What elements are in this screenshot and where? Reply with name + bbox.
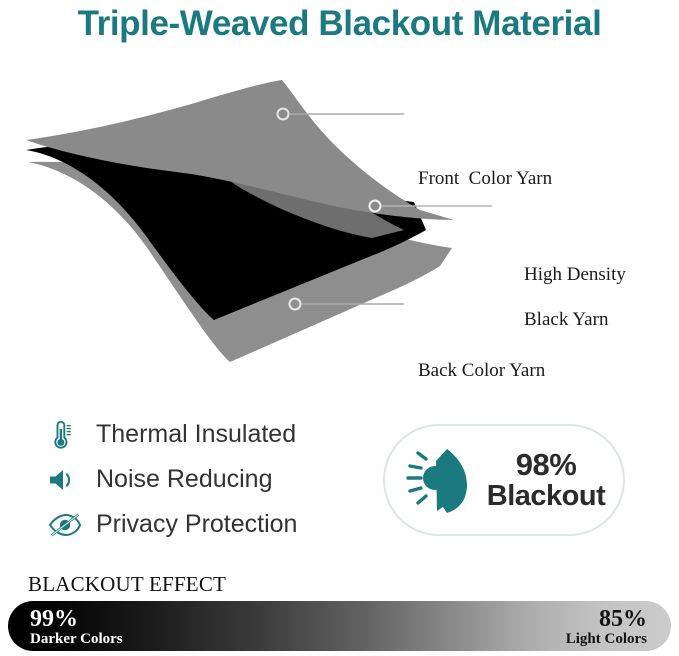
feature-list: Thermal Insulated Noise Reducing Privacy… [48,412,358,547]
feature-label-privacy-protection: Privacy Protection [96,510,297,539]
callout-label-high-density-line1: High Density [524,264,626,285]
badge-word: Blackout [487,481,605,512]
blackout-effect-gradient-bar: 99% Darker Colors 85% Light Colors [8,601,671,651]
effect-right-block: 85% Light Colors [566,607,647,648]
eye-slash-icon [48,508,90,542]
callout-label-back: Back Color Yarn [418,360,545,382]
thermometer-icon [48,418,90,452]
effect-left-block: 99% Darker Colors [30,607,123,648]
effect-right-percent: 85% [566,607,647,632]
effect-left-percent: 99% [30,607,123,632]
feature-item-privacy-protection: Privacy Protection [48,502,358,547]
blackout-badge: 98% Blackout [383,424,625,536]
feature-label-thermal-insulated: Thermal Insulated [96,420,296,449]
sun-blocked-icon [403,439,481,521]
callout-label-high-density: High Density Black Yarn [505,242,626,354]
effect-right-sublabel: Light Colors [566,632,647,648]
feature-item-thermal-insulated: Thermal Insulated [48,412,358,457]
fabric-layer-diagram: Front Color Yarn High Density Black Yarn… [0,62,679,372]
page-title: Triple-Weaved Blackout Material [0,4,679,44]
feature-label-noise-reducing: Noise Reducing [96,465,273,494]
badge-text: 98% Blackout [487,448,605,513]
callout-label-high-density-line2: Black Yarn [524,309,608,330]
feature-item-noise-reducing: Noise Reducing [48,457,358,502]
speaker-icon [48,463,90,497]
callout-label-front: Front Color Yarn [418,168,552,190]
effect-left-sublabel: Darker Colors [30,632,123,648]
blackout-effect-heading: BLACKOUT EFFECT [28,572,226,597]
badge-percent: 98% [487,448,605,481]
